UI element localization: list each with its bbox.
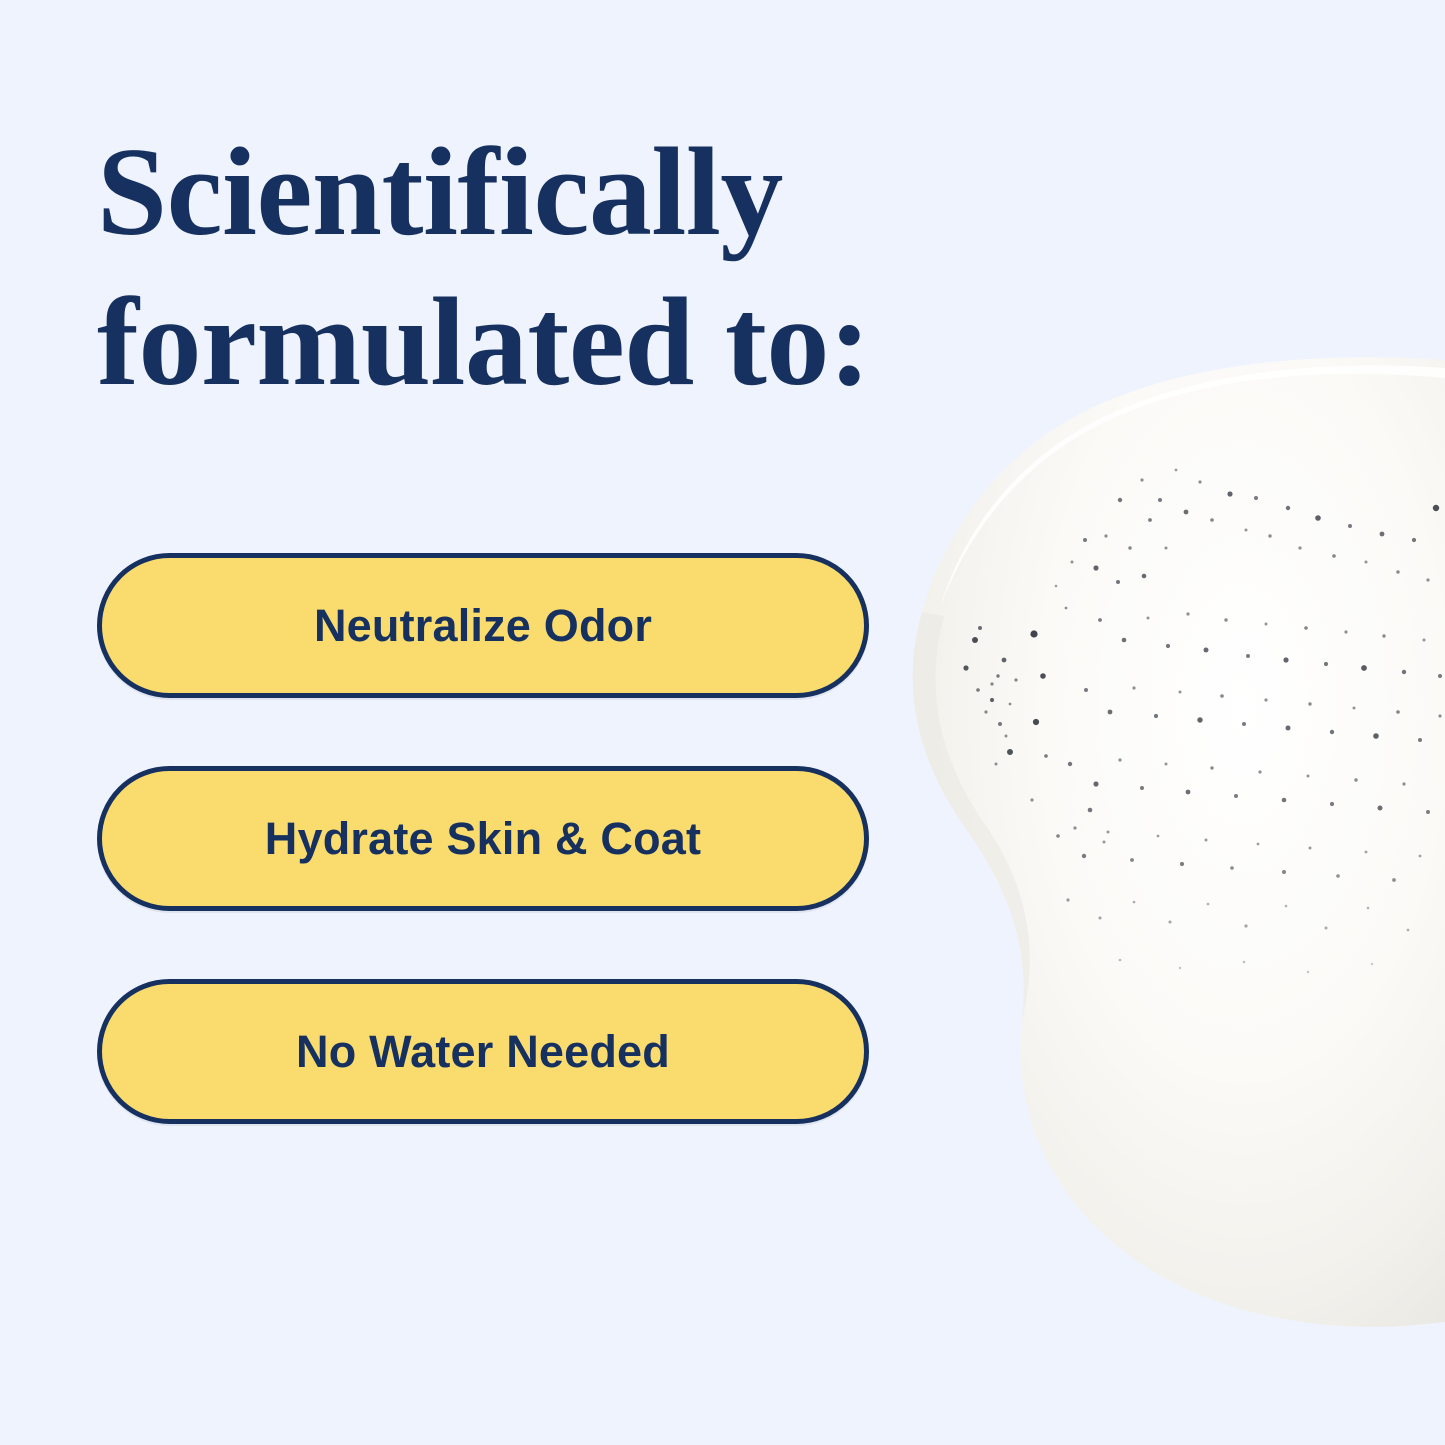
promo-canvas: Scientifically formulated to: Neutralize… <box>0 0 1445 1445</box>
benefit-pill-label: Neutralize Odor <box>314 603 652 648</box>
benefit-pill-no-water-needed[interactable]: No Water Needed <box>97 979 869 1124</box>
benefit-pill-list: Neutralize Odor Hydrate Skin & Coat No W… <box>97 553 869 1124</box>
benefit-pill-label: No Water Needed <box>296 1029 670 1074</box>
benefit-pill-hydrate-skin-coat[interactable]: Hydrate Skin & Coat <box>97 766 869 911</box>
benefit-pill-neutralize-odor[interactable]: Neutralize Odor <box>97 553 869 698</box>
foam-body <box>913 357 1445 1327</box>
benefit-pill-label: Hydrate Skin & Coat <box>265 816 701 861</box>
page-title: Scientifically formulated to: <box>97 118 957 418</box>
foam-speckles <box>963 469 1442 974</box>
